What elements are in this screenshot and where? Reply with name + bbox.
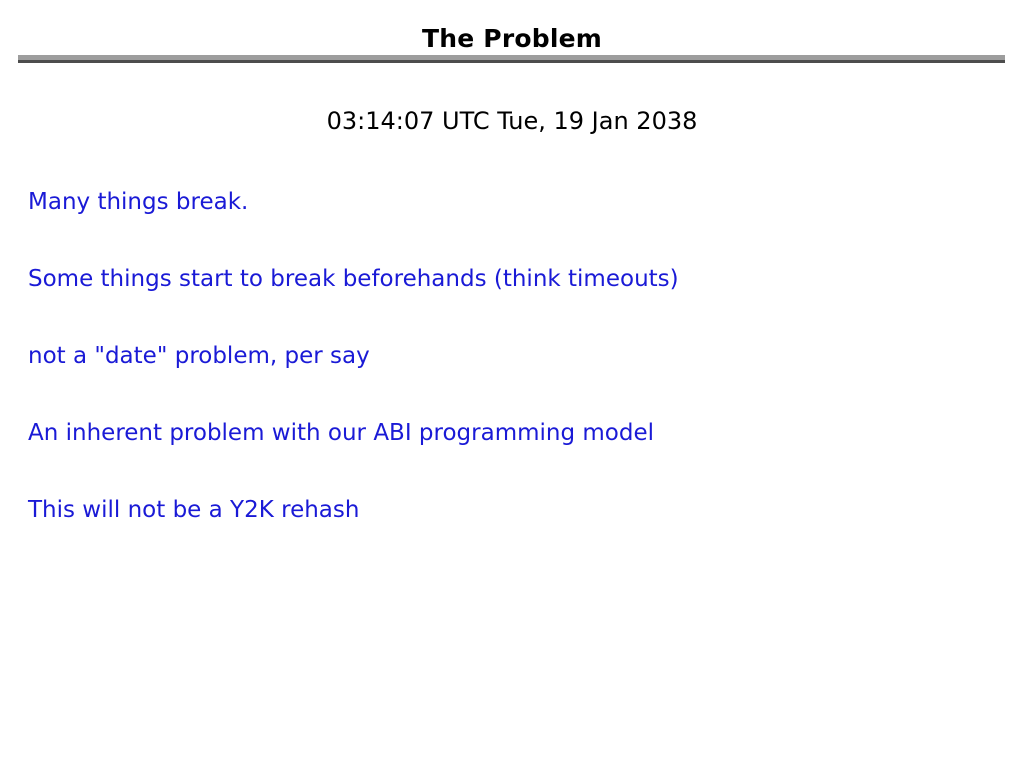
bullet-item: Many things break. xyxy=(28,187,1008,264)
overflow-timestamp: 03:14:07 UTC Tue, 19 Jan 2038 xyxy=(0,109,1024,133)
bullet-item: not a "date" problem, per say xyxy=(28,341,1008,418)
slide: The Problem 03:14:07 UTC Tue, 19 Jan 203… xyxy=(0,0,1024,768)
bullet-item: An inherent problem with our ABI program… xyxy=(28,418,1008,495)
bullet-item: Some things start to break beforehands (… xyxy=(28,264,1008,341)
bullet-item: This will not be a Y2K rehash xyxy=(28,495,1008,572)
title-divider xyxy=(18,55,1005,63)
slide-body: 03:14:07 UTC Tue, 19 Jan 2038 Many thing… xyxy=(0,70,1024,768)
slide-header: The Problem xyxy=(0,0,1024,70)
bullet-list: Many things break. Some things start to … xyxy=(28,187,1008,572)
title-divider-dark-band xyxy=(18,60,1005,63)
page-title: The Problem xyxy=(0,26,1024,51)
